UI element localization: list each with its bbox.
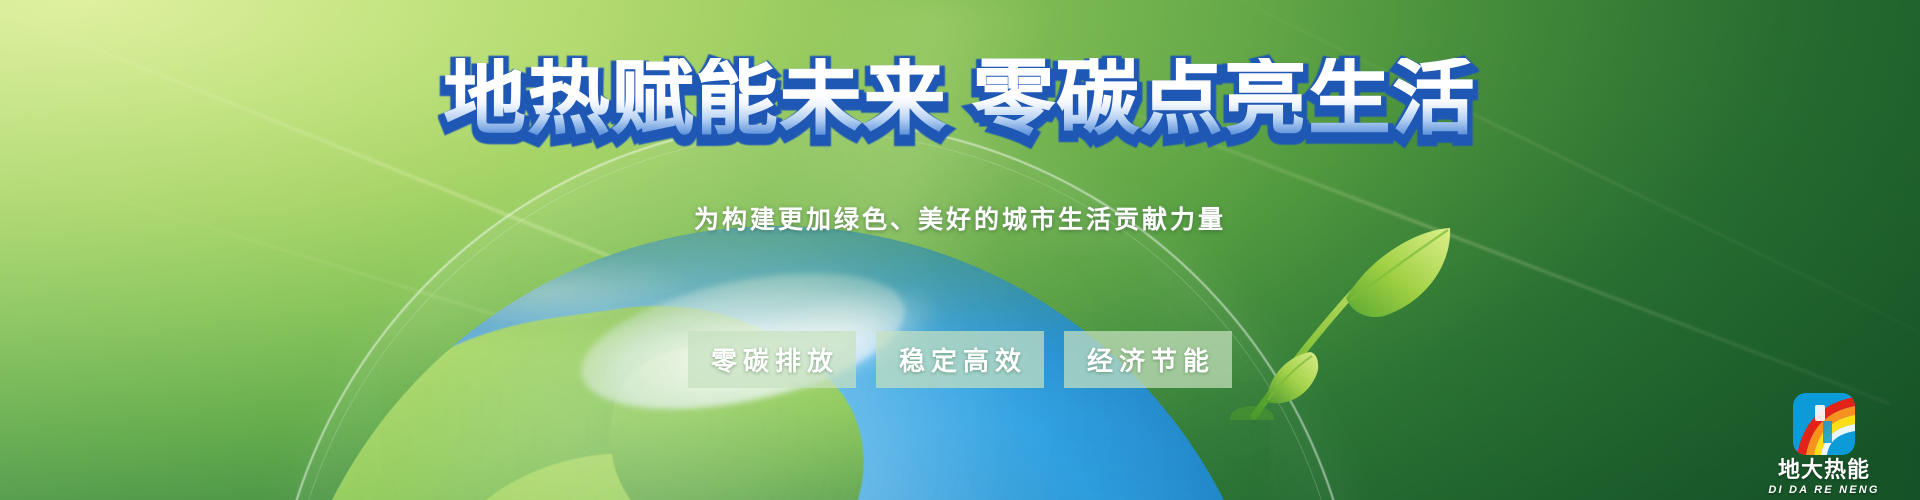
banner-title: 地热赋能未来 零碳点亮生活 地热赋能未来 零碳点亮生活 [0,58,1920,140]
feature-badge-list: 零碳排放 稳定高效 经济节能 [560,331,1360,388]
banner-subtitle: 为构建更加绿色、美好的城市生活贡献力量 [560,200,1360,236]
feature-badge-economical[interactable]: 经济节能 [1064,331,1232,388]
company-logo[interactable]: 地大热能 DI DA RE NENG [1750,393,1898,496]
logo-pinyin-name: DI DA RE NENG [1750,484,1898,496]
hero-banner: 地热赋能未来 零碳点亮生活 地热赋能未来 零碳点亮生活 为构建更加绿色、美好的城… [0,0,1920,500]
didareneng-logo-icon [1793,393,1855,455]
feature-badge-zero-carbon[interactable]: 零碳排放 [688,331,856,388]
feature-badge-stable-efficient[interactable]: 稳定高效 [876,331,1044,388]
logo-chinese-name: 地大热能 [1750,459,1898,482]
banner-title-text: 地热赋能未来 零碳点亮生活 [0,58,1920,140]
